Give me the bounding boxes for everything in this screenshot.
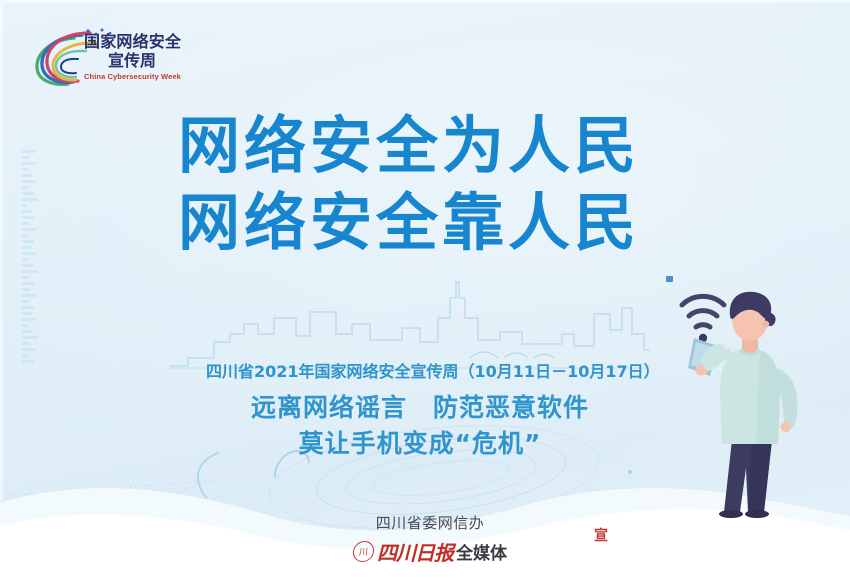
event-logo: 国家网络安全 宣传周 China Cybersecurity Week: [26, 26, 178, 92]
slogan-line-2: 莫让手机变成“危机”: [180, 426, 660, 462]
credit-media-row: 川 四川日报 全媒体 宣: [280, 537, 580, 566]
all-media-label: 全媒体: [456, 539, 507, 564]
logo-title-line2: 宣传周: [84, 53, 180, 69]
event-date-line: 四川省2021年国家网络安全宣传周（10月11日－10月17日）: [206, 358, 646, 382]
footer-credit: 四川省委网信办 川 四川日报 全媒体 宣: [280, 512, 580, 566]
slogan-block: 远离网络谣言 防范恶意软件 莫让手机变成“危机”: [180, 390, 660, 461]
poster-canvas: 国家网络安全 宣传周 China Cybersecurity Week 网络安全…: [0, 0, 850, 580]
credit-organization: 四川省委网信办: [280, 512, 580, 533]
logo-text-block: 国家网络安全 宣传周 China Cybersecurity Week: [84, 34, 180, 81]
sichuan-daily-badge-icon: 川: [352, 541, 375, 562]
logo-english-subtitle: China Cybersecurity Week: [84, 73, 180, 81]
seal-mark: 宣: [594, 525, 608, 545]
headline-block: 网络安全为人民 网络安全靠人民: [178, 114, 698, 254]
person-with-phone-illustration: [660, 272, 840, 522]
frame-edge-top: [0, 0, 850, 3]
sichuan-daily-name: 四川日报: [377, 537, 453, 566]
binary-strip-decoration: [22, 150, 38, 400]
slogan-line-1: 远离网络谣言 防范恶意软件: [180, 390, 660, 426]
wifi-signal-icon: [682, 296, 724, 327]
headline-line-2: 网络安全靠人民: [178, 191, 698, 254]
headline-line-1: 网络安全为人民: [178, 114, 698, 177]
logo-title-line1: 国家网络安全: [84, 34, 180, 50]
city-skyline-outline: [170, 278, 650, 370]
